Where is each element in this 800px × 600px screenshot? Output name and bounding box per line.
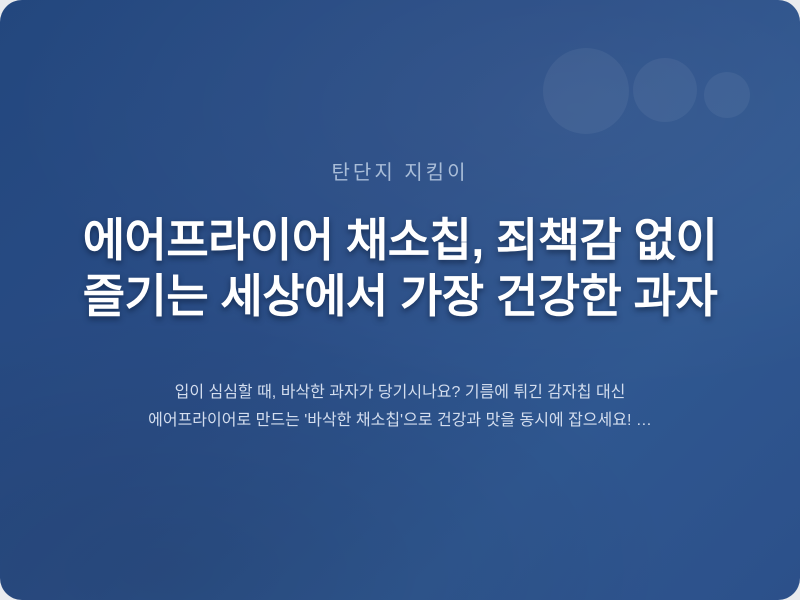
- card-description: 입이 심심할 때, 바삭한 과자가 당기시나요? 기름에 튀긴 감자칩 대신 에…: [148, 379, 652, 435]
- hero-card: 탄단지 지킴이 에어프라이어 채소칩, 죄책감 없이 즐기는 세상에서 가장 건…: [0, 0, 800, 600]
- card-description-line-1: 입이 심심할 때, 바삭한 과자가 당기시나요? 기름에 튀긴 감자칩 대신: [148, 379, 652, 407]
- card-title: 에어프라이어 채소칩, 죄책감 없이 즐기는 세상에서 가장 건강한 과자: [83, 212, 718, 324]
- card-eyebrow: 탄단지 지킴이: [332, 160, 469, 186]
- card-title-line-2: 즐기는 세상에서 가장 건강한 과자: [83, 268, 718, 324]
- card-title-line-1: 에어프라이어 채소칩, 죄책감 없이: [83, 212, 718, 268]
- card-description-line-2: 에어프라이어로 만드는 '바삭한 채소칩'으로 건강과 맛을 동시에 잡으세요!…: [148, 407, 652, 435]
- card-content: 탄단지 지킴이 에어프라이어 채소칩, 죄책감 없이 즐기는 세상에서 가장 건…: [0, 0, 800, 451]
